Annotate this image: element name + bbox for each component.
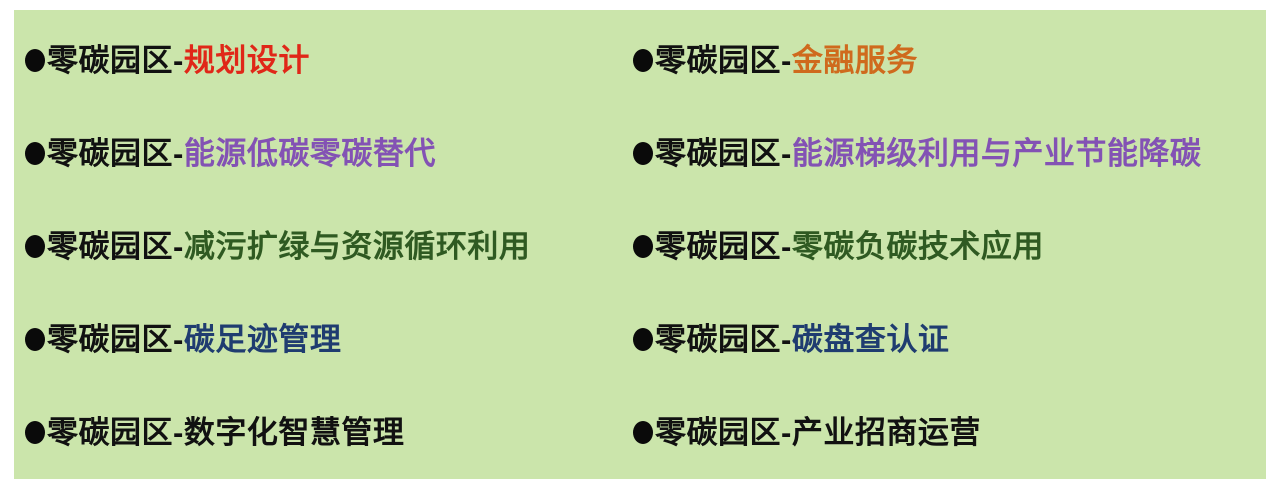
list-item-prefix: 零碳园区-: [47, 417, 184, 448]
filled-circle-bullet-icon: [25, 421, 45, 444]
list-item-accent: 产业招商运营: [792, 417, 981, 448]
list-item-accent: 碳盘查认证: [792, 324, 950, 355]
list-item[interactable]: 零碳园区- 产业招商运营: [633, 417, 1266, 448]
list-item-prefix: 零碳园区-: [655, 417, 792, 448]
filled-circle-bullet-icon: [25, 328, 45, 351]
list-item-accent: 数字化智慧管理: [184, 417, 405, 448]
list-item[interactable]: 零碳园区- 碳盘查认证: [633, 324, 1266, 355]
list-item-accent: 碳足迹管理: [184, 324, 342, 355]
list-item-accent: 能源低碳零碳替代: [184, 138, 436, 169]
list-item-prefix: 零碳园区-: [655, 45, 792, 76]
list-item[interactable]: 零碳园区- 规划设计: [25, 45, 633, 76]
list-item-accent: 金融服务: [792, 45, 918, 76]
list-item-accent: 减污扩绿与资源循环利用: [184, 231, 531, 262]
list-item[interactable]: 零碳园区- 零碳负碳技术应用: [633, 231, 1266, 262]
list-item[interactable]: 零碳园区- 碳足迹管理: [25, 324, 633, 355]
list-item-prefix: 零碳园区-: [47, 324, 184, 355]
service-list-grid: 零碳园区- 规划设计 零碳园区- 金融服务 零碳园区- 能源低碳零碳替代 零碳园…: [14, 10, 1266, 479]
list-item-accent: 零碳负碳技术应用: [792, 231, 1044, 262]
filled-circle-bullet-icon: [633, 142, 653, 165]
list-item-prefix: 零碳园区-: [655, 324, 792, 355]
list-item-prefix: 零碳园区-: [47, 231, 184, 262]
list-item[interactable]: 零碳园区- 能源低碳零碳替代: [25, 138, 633, 169]
list-item-prefix: 零碳园区-: [655, 138, 792, 169]
filled-circle-bullet-icon: [25, 49, 45, 72]
filled-circle-bullet-icon: [633, 421, 653, 444]
filled-circle-bullet-icon: [25, 235, 45, 258]
list-item-accent: 规划设计: [184, 45, 310, 76]
list-item-prefix: 零碳园区-: [47, 45, 184, 76]
filled-circle-bullet-icon: [633, 235, 653, 258]
filled-circle-bullet-icon: [633, 49, 653, 72]
green-content-panel: 零碳园区- 规划设计 零碳园区- 金融服务 零碳园区- 能源低碳零碳替代 零碳园…: [14, 10, 1266, 479]
list-item[interactable]: 零碳园区- 减污扩绿与资源循环利用: [25, 231, 633, 262]
filled-circle-bullet-icon: [633, 328, 653, 351]
slide-canvas: 零碳园区- 规划设计 零碳园区- 金融服务 零碳园区- 能源低碳零碳替代 零碳园…: [0, 0, 1266, 490]
list-item[interactable]: 零碳园区- 数字化智慧管理: [25, 417, 633, 448]
list-item-prefix: 零碳园区-: [655, 231, 792, 262]
list-item-accent: 能源梯级利用与产业节能降碳: [792, 138, 1202, 169]
list-item[interactable]: 零碳园区- 能源梯级利用与产业节能降碳: [633, 138, 1266, 169]
list-item[interactable]: 零碳园区- 金融服务: [633, 45, 1266, 76]
filled-circle-bullet-icon: [25, 142, 45, 165]
list-item-prefix: 零碳园区-: [47, 138, 184, 169]
